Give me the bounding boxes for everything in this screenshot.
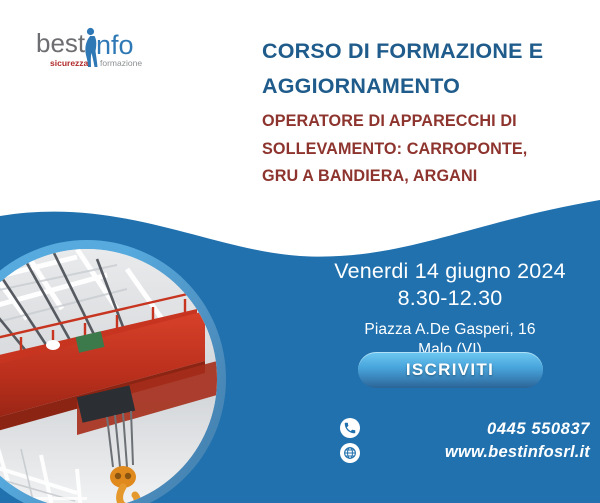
course-title-line-1: CORSO DI FORMAZIONE E — [262, 34, 592, 69]
course-subtitle: OPERATORE DI APPARECCHI DI SOLLEVAMENTO:… — [262, 108, 592, 192]
iscriviti-button[interactable]: ISCRIVITI — [358, 352, 543, 388]
cta-container: ISCRIVITI — [300, 352, 600, 388]
promo-poster: best nfo sicurezza formazione CORSO DI F… — [0, 0, 600, 503]
event-date: Venerdi 14 giugno 2024 — [300, 258, 600, 285]
course-subtitle-line-2: SOLLEVAMENTO: CARROPONTE, — [262, 136, 592, 164]
phone-icon[interactable] — [340, 418, 360, 438]
globe-icon[interactable] — [340, 443, 360, 463]
contact-icon-column — [330, 418, 370, 463]
course-subtitle-line-1: OPERATORE DI APPARECCHI DI — [262, 108, 592, 136]
photo-medallion — [0, 240, 226, 503]
event-address: Piazza A.De Gasperi, 16 — [300, 320, 600, 340]
logo-tagline-formazione: formazione — [100, 58, 142, 68]
contact-text-column: 0445 550837 www.bestinfosrl.it — [370, 418, 600, 463]
logo-tagline-sicurezza: sicurezza — [50, 58, 89, 68]
event-info: Venerdi 14 giugno 2024 8.30-12.30 Piazza… — [300, 258, 600, 361]
course-subtitle-line-3: GRU A BANDIERA, ARGANI — [262, 163, 592, 191]
bestinfo-logo: best nfo sicurezza formazione — [36, 24, 156, 72]
contact-phone[interactable]: 0445 550837 — [370, 418, 590, 440]
logo-figure-head — [87, 28, 94, 35]
heading-block: CORSO DI FORMAZIONE E AGGIORNAMENTO OPER… — [262, 34, 592, 191]
course-title: CORSO DI FORMAZIONE E AGGIORNAMENTO — [262, 34, 592, 104]
contact-block: 0445 550837 www.bestinfosrl.it — [330, 418, 600, 463]
course-title-line-2: AGGIORNAMENTO — [262, 69, 592, 104]
logo-best-text: best — [36, 28, 86, 58]
event-time: 8.30-12.30 — [300, 285, 600, 312]
contact-website[interactable]: www.bestinfosrl.it — [370, 441, 590, 463]
logo-info-text: nfo — [96, 30, 134, 60]
